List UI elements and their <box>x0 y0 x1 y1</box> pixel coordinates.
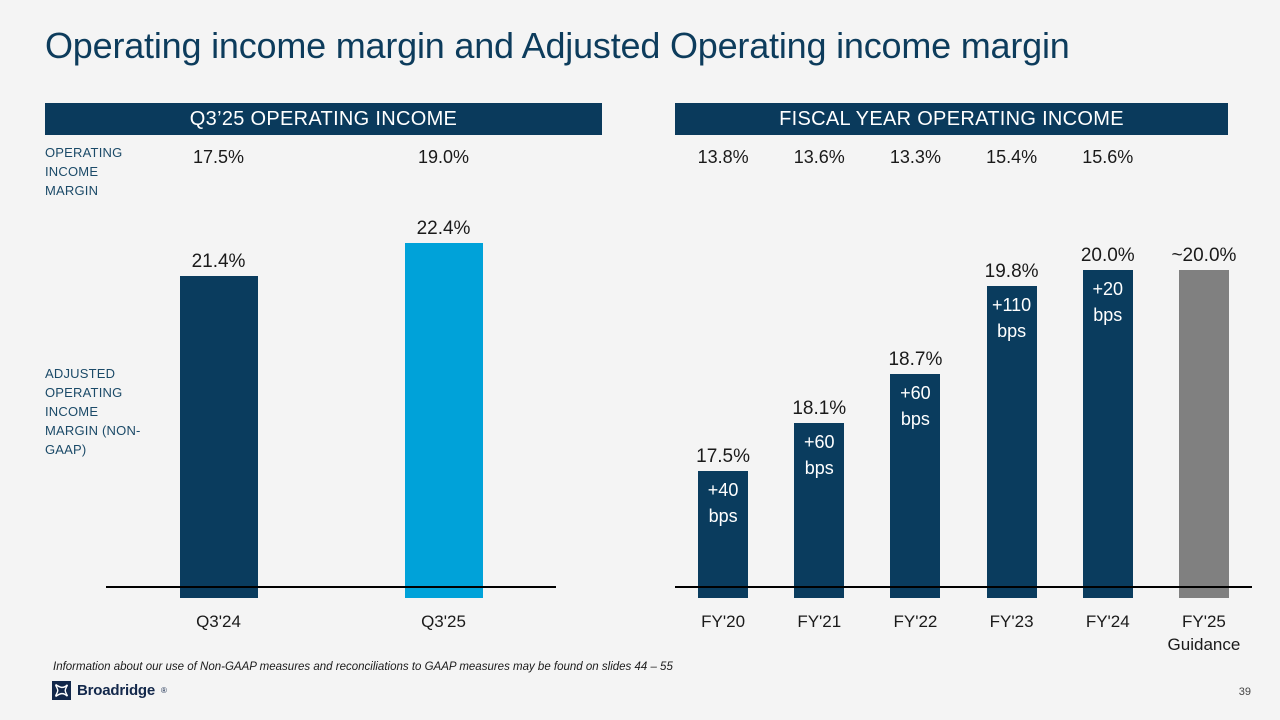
plot-area-quarter: 21.4% 22.4% <box>106 200 556 598</box>
x-tick-label-line1: FY'25 <box>1156 610 1252 633</box>
panel-header-quarter: Q3’25 OPERATING INCOME <box>45 103 602 135</box>
bar-slot: 17.5% +40 bps <box>675 200 771 598</box>
x-tick-label: FY'21 <box>771 610 867 656</box>
x-tick-label: FY'24 <box>1060 610 1156 656</box>
bar[interactable]: +110 bps <box>987 286 1037 598</box>
bar-value-label: 17.5% <box>696 445 750 469</box>
bar[interactable]: +40 bps <box>698 471 748 598</box>
x-tick-label: FY'23 <box>964 610 1060 656</box>
x-axis-line <box>675 586 1252 588</box>
trademark-symbol: ® <box>161 686 167 695</box>
bar-slot: 18.7% +60 bps <box>867 200 963 598</box>
x-axis-tick-labels-fiscal-year: FY'20 FY'21 FY'22 FY'23 FY'24 FY'25 Guid… <box>675 610 1252 656</box>
bar-value-label: 18.1% <box>792 397 846 421</box>
bps-label-line1: +60 <box>794 429 844 455</box>
bps-label-line2: bps <box>698 503 748 529</box>
x-tick-label: FY'20 <box>675 610 771 656</box>
x-tick-label: Q3'24 <box>106 610 331 633</box>
x-axis-line <box>106 586 556 588</box>
bar-slot: 19.8% +110 bps <box>964 200 1060 598</box>
bar[interactable]: +60 bps <box>794 423 844 598</box>
plot-area-fiscal-year: 17.5% +40 bps 18.1% +60 bps 18.7% +60 bp… <box>675 200 1252 598</box>
bps-label-line2: bps <box>890 406 940 432</box>
bar-slot: 18.1% +60 bps <box>771 200 867 598</box>
bar-slot: 20.0% +20 bps <box>1060 200 1156 598</box>
bar-slot: 21.4% <box>106 200 331 598</box>
bar[interactable]: +20 bps <box>1083 270 1133 598</box>
bar[interactable] <box>1179 270 1229 598</box>
margin-value: 13.8% <box>675 144 771 170</box>
margin-value: 17.5% <box>106 144 331 170</box>
margin-value: 15.6% <box>1060 144 1156 170</box>
broadridge-wordmark: Broadridge <box>77 682 155 699</box>
margin-value: 13.3% <box>867 144 963 170</box>
bar-value-label: 20.0% <box>1081 244 1135 268</box>
bar-value-label: 19.8% <box>985 260 1039 284</box>
bar[interactable] <box>180 276 258 598</box>
bar-value-label: 21.4% <box>192 250 246 274</box>
bar-value-label: 18.7% <box>888 348 942 372</box>
bar-slot: 22.4% <box>331 200 556 598</box>
bps-label-line2: bps <box>794 455 844 481</box>
bps-label-line1: +60 <box>890 380 940 406</box>
margin-values-row-quarter: 17.5% 19.0% <box>106 144 556 170</box>
bar[interactable] <box>405 243 483 598</box>
chart-fiscal-year-operating-income: 17.5% +40 bps 18.1% +60 bps 18.7% +60 bp… <box>675 200 1252 610</box>
chart-q3-operating-income: 21.4% 22.4% Q3'24 Q3'25 <box>106 200 556 610</box>
bps-label-line1: +40 <box>698 477 748 503</box>
page-title: Operating income margin and Adjusted Ope… <box>45 22 1225 70</box>
x-tick-label: Q3'25 <box>331 610 556 633</box>
broadridge-butterfly-mark-icon <box>52 681 71 700</box>
margin-values-row-fiscal-year: 13.8% 13.6% 13.3% 15.4% 15.6% <box>675 144 1252 170</box>
bar-slot: ~20.0% <box>1156 200 1252 598</box>
x-tick-label: FY'22 <box>867 610 963 656</box>
bar-value-label: 22.4% <box>417 217 471 241</box>
margin-value: 15.4% <box>964 144 1060 170</box>
x-tick-label-line2: Guidance <box>1156 633 1252 656</box>
bps-label-line2: bps <box>1083 302 1133 328</box>
slide: Operating income margin and Adjusted Ope… <box>0 0 1280 720</box>
footnote-non-gaap: Information about our use of Non-GAAP me… <box>53 661 673 673</box>
margin-value <box>1156 144 1252 170</box>
bar-value-label: ~20.0% <box>1171 244 1236 268</box>
margin-value: 13.6% <box>771 144 867 170</box>
bps-label-line1: +110 <box>987 292 1037 318</box>
bps-label-line1: +20 <box>1083 276 1133 302</box>
broadridge-logo: Broadridge ® <box>52 681 167 700</box>
x-tick-label-guidance: FY'25 Guidance <box>1156 610 1252 656</box>
margin-value: 19.0% <box>331 144 556 170</box>
panel-header-fiscal-year: FISCAL YEAR OPERATING INCOME <box>675 103 1228 135</box>
x-axis-tick-labels-quarter: Q3'24 Q3'25 <box>106 610 556 633</box>
page-number: 39 <box>1239 686 1251 698</box>
bps-label-line2: bps <box>987 318 1037 344</box>
bar[interactable]: +60 bps <box>890 374 940 598</box>
